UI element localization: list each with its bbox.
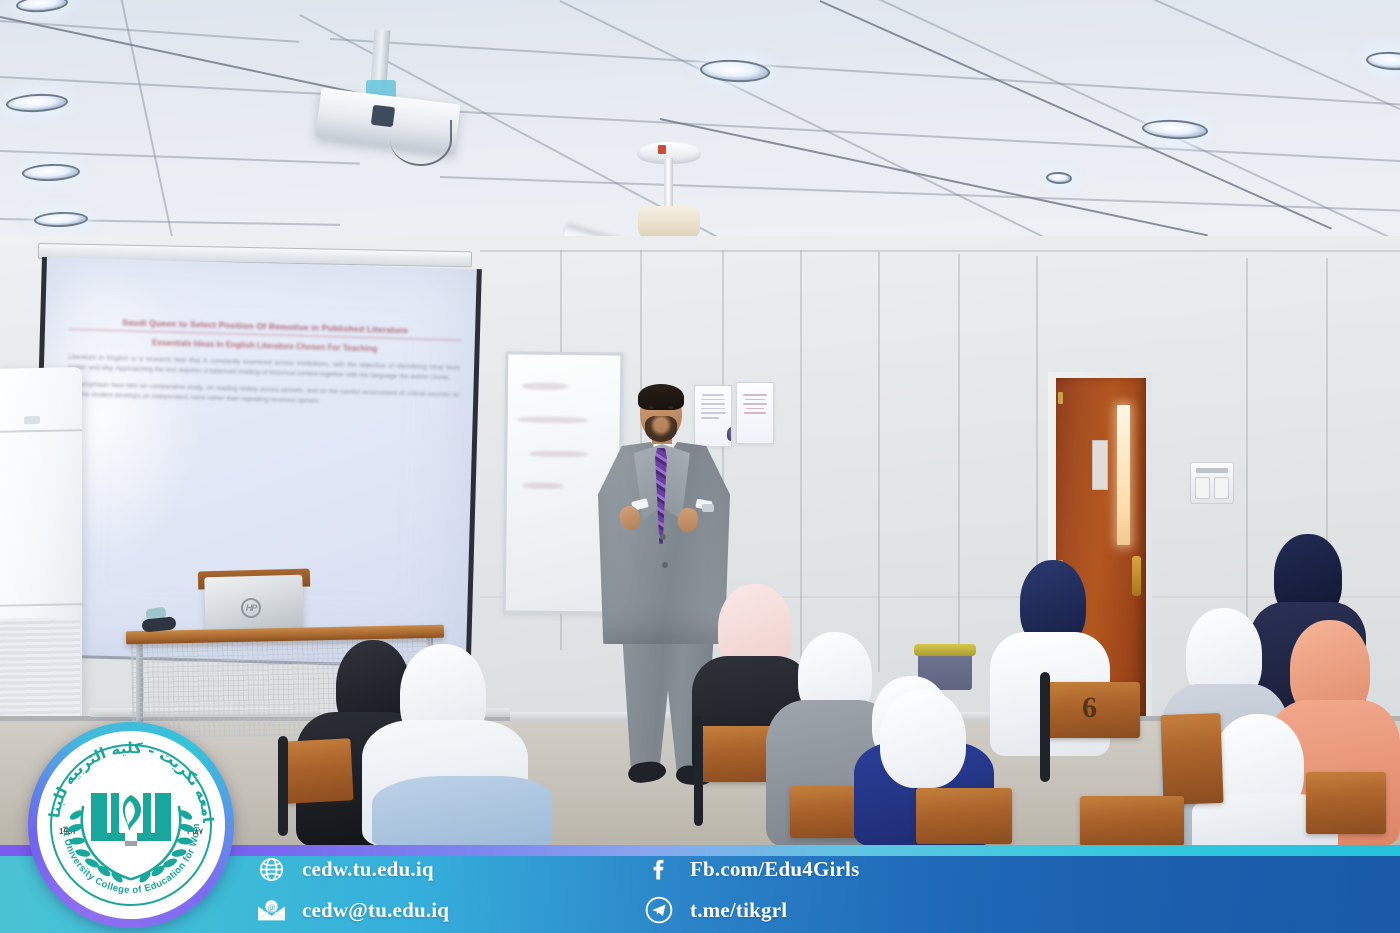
contact-facebook[interactable]: Fb.com/Edu4Girls [644,854,859,884]
wall-panel-line [878,252,880,672]
fan-indicator-dot [658,145,666,154]
classroom-chair[interactable] [1160,713,1223,805]
globe-icon [256,854,286,884]
presenter-eye [649,406,654,409]
telegram-label: t.me/tikgrl [690,898,787,923]
wall-poster [736,382,774,444]
light-switch[interactable] [1195,477,1210,499]
wristwatch [702,504,714,512]
door-glass-panel [1117,405,1130,545]
website-label: cedw.tu.edu.iq [302,857,434,882]
presenter-eye [668,406,673,409]
classroom-chair[interactable] [1306,772,1386,834]
contact-email[interactable]: @ cedw@tu.edu.iq [256,895,449,925]
poster-seal-icon [727,427,732,441]
wall-panel-line [958,254,960,654]
wall-panel-line [800,250,802,680]
logo-inner-disc: جامعة تكريت - كلية التربية للبنات Tikrit… [37,731,225,919]
chair-frame [694,716,703,826]
presenter-beard [645,416,677,442]
facebook-icon [644,854,674,884]
waste-bin-lid [914,644,976,656]
presenter-hair [638,384,684,410]
facebook-label: Fb.com/Edu4Girls [690,857,859,882]
air-conditioner [0,367,82,745]
slide-paragraph: The emphasis here falls on comparative s… [53,380,473,412]
door-handle[interactable] [1132,556,1141,596]
wall-seam [480,250,1400,252]
classroom-photograph: Saudi Queen to Select Position Of Remoti… [0,0,1400,845]
ac-badge [24,416,40,424]
student-skirt [372,776,552,845]
hp-logo-icon: HP [241,598,261,618]
screenshot-root: Saudi Queen to Select Position Of Remoti… [0,0,1400,933]
svg-text:@: @ [267,901,275,911]
open-book-icon [85,787,177,847]
chair-frame [278,736,288,836]
door-notice-plate [1092,440,1108,490]
contact-telegram[interactable]: t.me/tikgrl [644,895,787,925]
telegram-icon [644,895,674,925]
classroom-chair[interactable] [916,788,1012,844]
classroom-chair[interactable]: 6 [1046,682,1140,738]
chair-frame [1040,672,1050,782]
door-hinge [1058,392,1063,404]
slide-paragraph: Literature in English is a research fiel… [54,353,474,385]
light-switch-plate[interactable] [1190,462,1234,504]
envelope-at-icon: @ [256,895,286,925]
wall-poster [694,385,732,447]
university-logo: جامعة تكريت - كلية التربية للبنات Tikrit… [28,722,234,928]
light-switch[interactable] [1214,477,1229,499]
chair-number: 6 [1082,691,1097,725]
jacket-button [660,534,666,540]
jacket-button [662,562,668,568]
contact-website[interactable]: cedw.tu.edu.iq [256,854,434,884]
wall-panel-line [1246,258,1248,678]
classroom-chair[interactable] [282,738,353,803]
student-hijab [880,690,966,788]
email-label: cedw@tu.edu.iq [302,898,449,923]
classroom-chair[interactable] [1080,796,1184,845]
